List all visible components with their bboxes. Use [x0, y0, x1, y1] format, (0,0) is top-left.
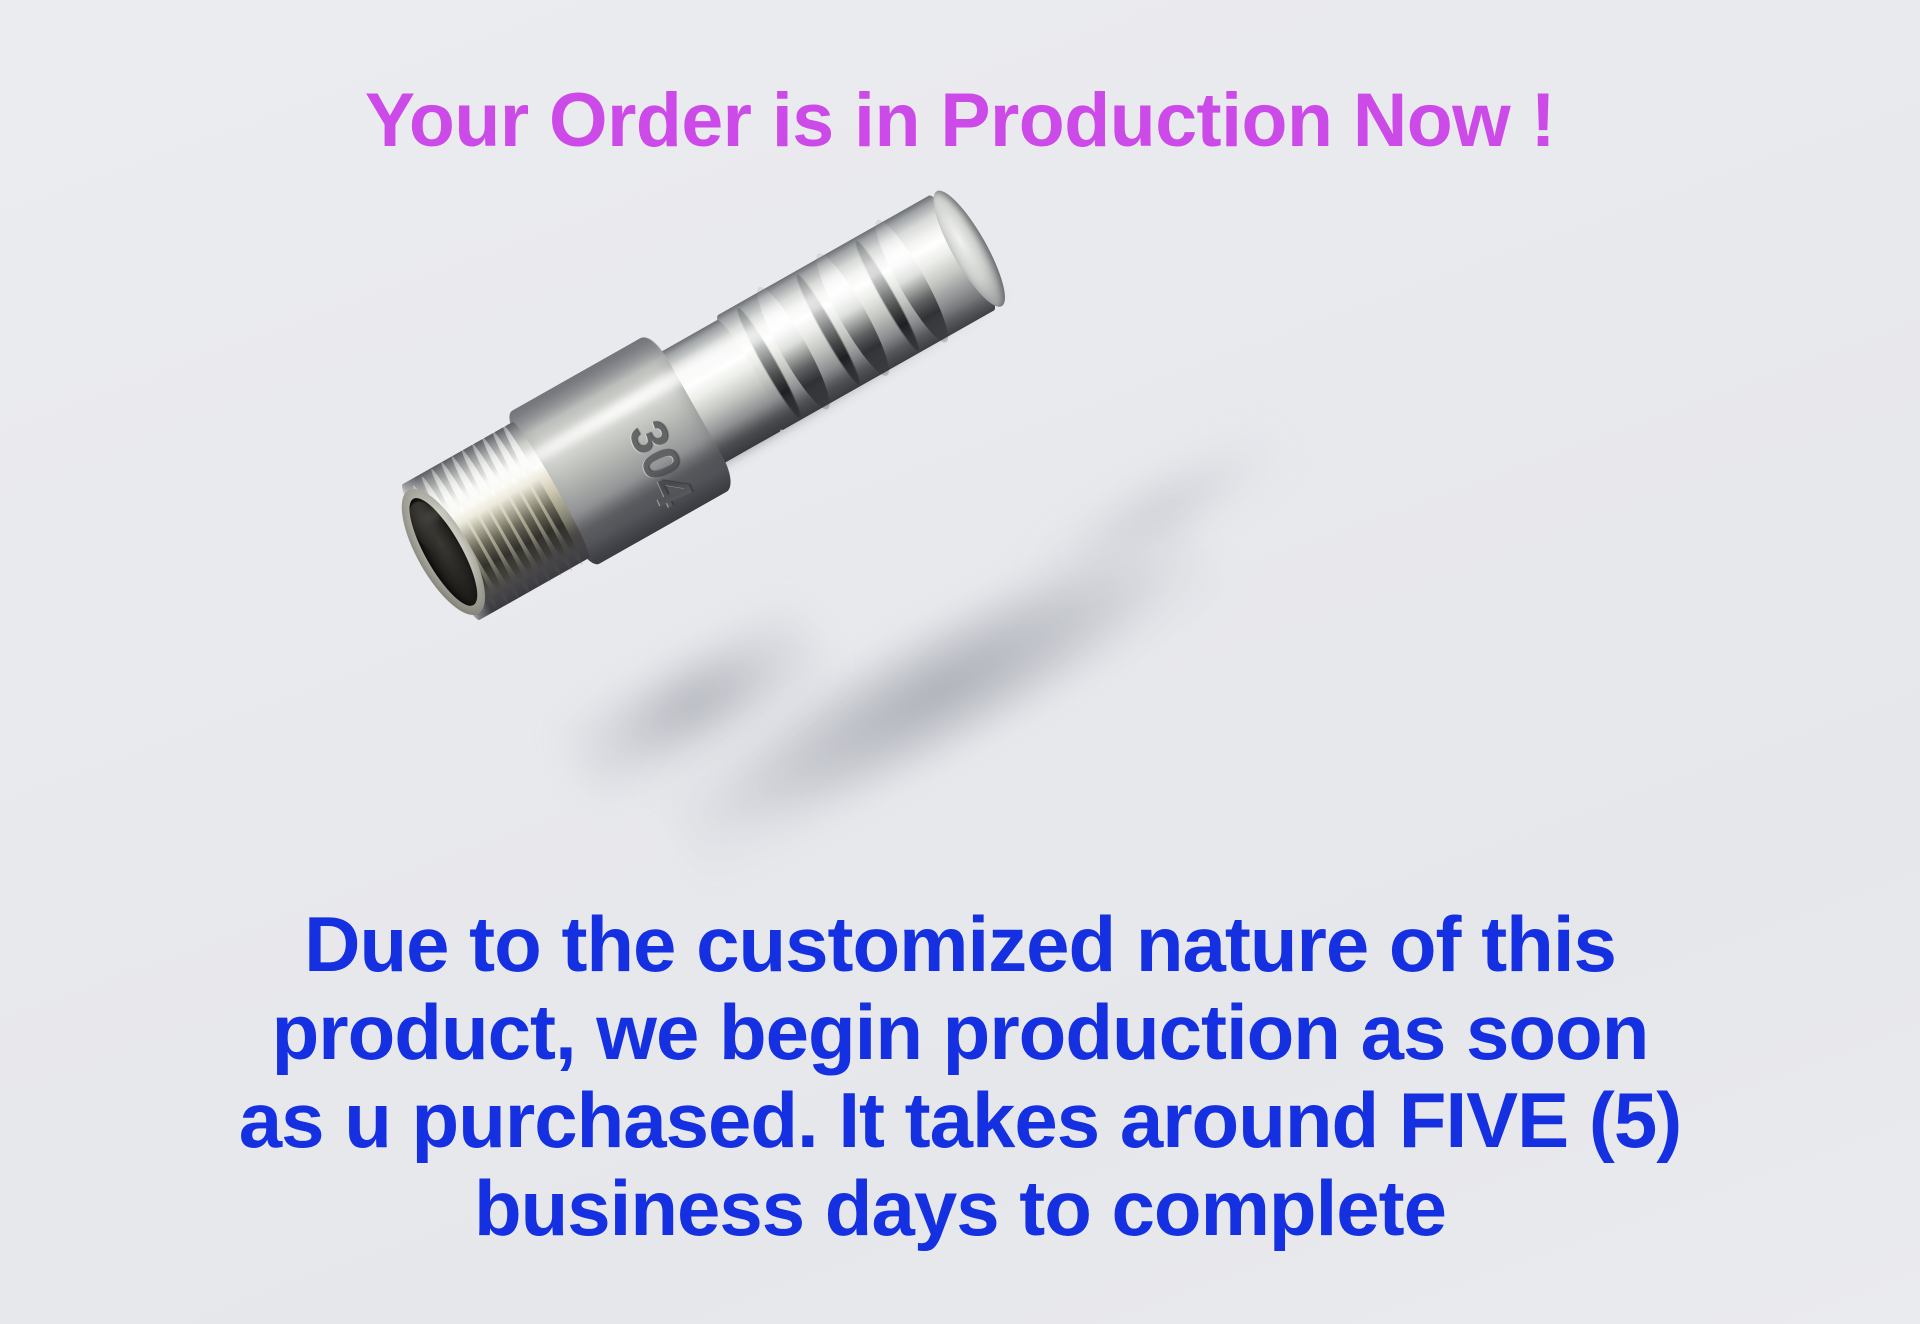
- body-line-2: product, we begin production as soon: [0, 988, 1920, 1076]
- body-line-1: Due to the customized nature of this: [0, 900, 1920, 988]
- body-line-4: business days to complete: [0, 1164, 1920, 1252]
- promo-poster: Your Order is in Production Now ! 304: [0, 0, 1920, 1324]
- body-copy: Due to the customized nature of this pro…: [0, 900, 1920, 1252]
- product-photo: 304: [0, 170, 1920, 910]
- body-line-3: as u purchased. It takes around FIVE (5): [0, 1076, 1920, 1164]
